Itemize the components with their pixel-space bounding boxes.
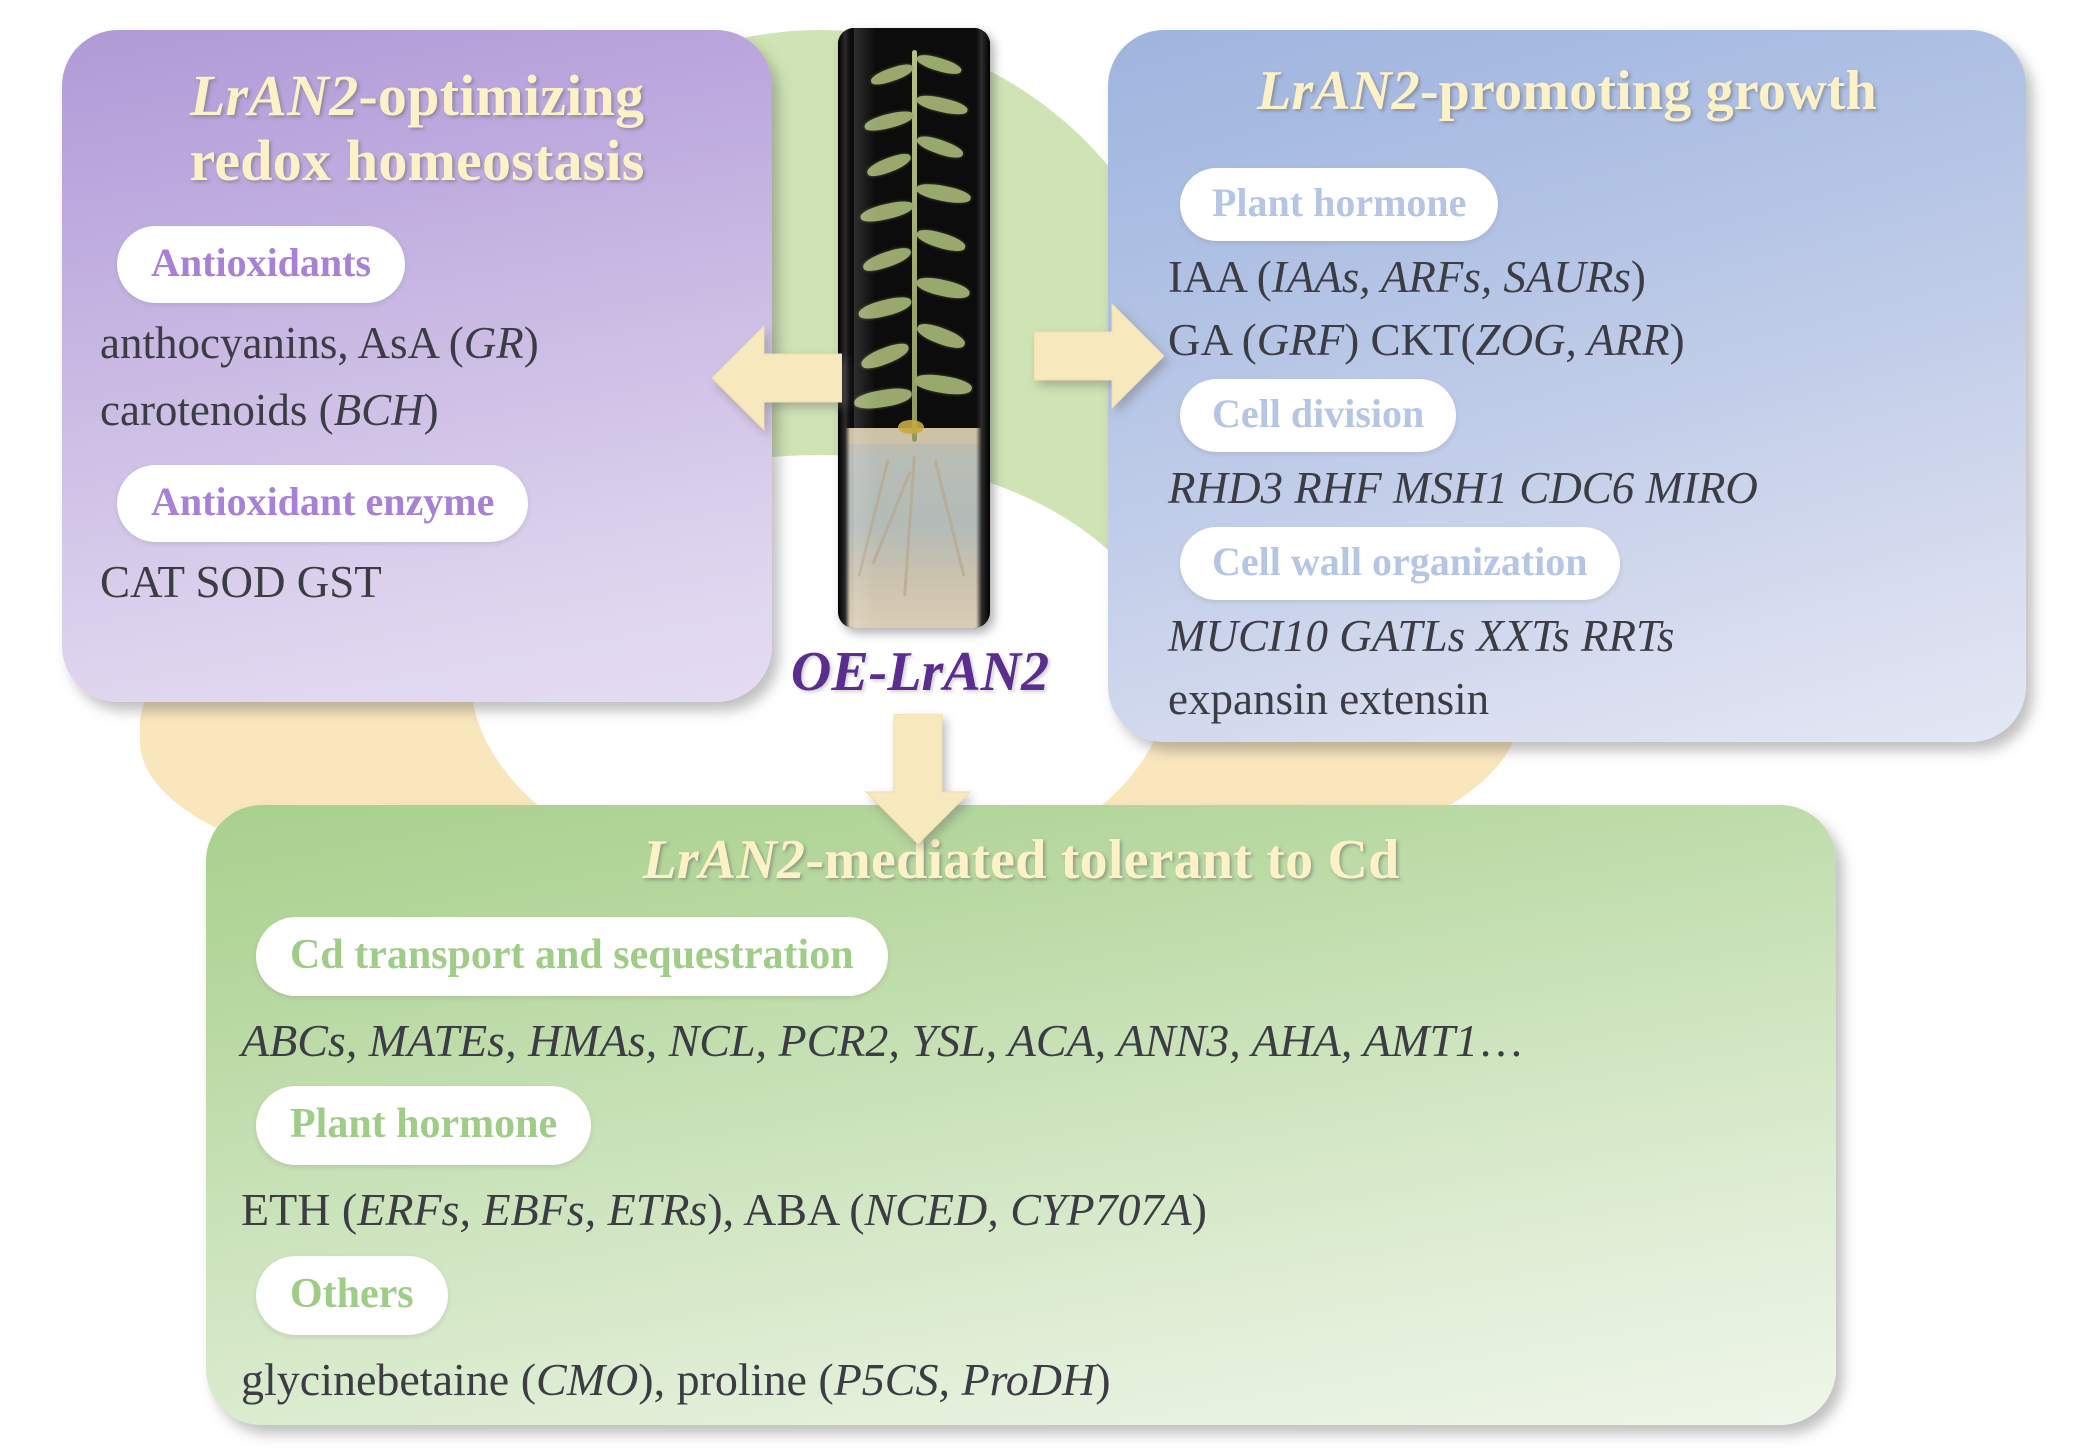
text-part: carotenoids ( xyxy=(100,385,334,435)
spacer xyxy=(1108,367,2026,379)
plant-tube-photo xyxy=(838,28,990,628)
text-part: ) xyxy=(1192,1184,1207,1235)
text-part: ETH ( xyxy=(241,1184,357,1235)
panel-left-title-gene: LrAN2 xyxy=(190,63,359,128)
text-part: glycinebetaine ( xyxy=(241,1354,536,1405)
spacer xyxy=(62,437,772,465)
panel-right-title: LrAN2-promoting growth xyxy=(1108,30,2026,123)
panel-bottom-content: Cd transport and sequestration ABCs, MAT… xyxy=(206,917,1836,1407)
chip-others: Others xyxy=(256,1256,448,1335)
text-part: ), proline ( xyxy=(638,1354,833,1405)
text-part: … xyxy=(1478,1015,1524,1066)
gene-name: GRF xyxy=(1257,315,1344,365)
gene-name: RHD3 RHF MSH1 CDC6 MIRO xyxy=(1168,463,1758,513)
arrow-right-icon xyxy=(1034,296,1164,416)
text-part: ) xyxy=(424,385,439,435)
panel-right-content: Plant hormone IAA (IAAs, ARFs, SAURs) GA… xyxy=(1108,168,2026,726)
arrow-down-icon xyxy=(858,714,978,844)
panel-left-content: Antioxidants anthocyanins, AsA (GR) caro… xyxy=(62,226,772,609)
center-label-oe-lran2: OE-LrAN2 xyxy=(770,640,1070,704)
plant-base xyxy=(898,420,924,434)
text-part: anthocyanins, AsA ( xyxy=(100,318,464,368)
panel-left-title: LrAN2-optimizing redox homeostasis xyxy=(62,30,772,194)
chip-antioxidant-enzyme: Antioxidant enzyme xyxy=(117,465,528,542)
gene-name: MUCI10 GATLs XXTs RRTs xyxy=(1168,611,1674,661)
gene-name: ERFs, EBFs, ETRs xyxy=(357,1184,707,1235)
panel-left-title-line2: redox homeostasis xyxy=(189,128,644,193)
line-antioxidants-2: carotenoids (BCH) xyxy=(100,384,772,437)
text-part: ) xyxy=(1631,252,1646,302)
arrow-left-icon xyxy=(712,318,842,438)
tube-glass xyxy=(838,28,990,628)
gene-name: IAAs, ARFs, SAURs xyxy=(1272,252,1631,302)
gene-name: NCED, CYP707A xyxy=(865,1184,1192,1235)
tube-edge-right xyxy=(976,28,990,628)
text-part: CAT SOD GST xyxy=(100,557,382,607)
gene-name: ABCs, MATEs, HMAs, NCL, PCR2, YSL, ACA, … xyxy=(241,1015,1478,1066)
panel-left-title-rest: -optimizing xyxy=(358,63,644,128)
chip-cell-division: Cell division xyxy=(1180,379,1456,452)
chip-cd-transport: Cd transport and sequestration xyxy=(256,917,888,996)
line-antioxidants-1: anthocyanins, AsA (GR) xyxy=(100,317,772,370)
panel-bottom-title: LrAN2-mediated tolerant to Cd xyxy=(206,805,1836,892)
panel-bottom-title-gene: LrAN2 xyxy=(642,829,805,891)
spacer xyxy=(1108,515,2026,527)
panel-right-title-rest: -promoting growth xyxy=(1420,60,1877,122)
gene-name: P5CS, ProDH xyxy=(834,1354,1096,1405)
line-others-1: glycinebetaine (CMO), proline (P5CS, Pro… xyxy=(241,1353,1836,1407)
line-hormone-1: IAA (IAAs, ARFs, SAURs) xyxy=(1168,251,2026,304)
panel-right-title-gene: LrAN2 xyxy=(1257,60,1420,122)
text-part: IAA ( xyxy=(1168,252,1272,302)
text-part: ), ABA ( xyxy=(707,1184,864,1235)
text-part: ) CKT( xyxy=(1344,315,1475,365)
line-antioxidant-enzyme-1: CAT SOD GST xyxy=(100,556,772,609)
text-part: expansin extensin xyxy=(1168,674,1489,724)
spacer xyxy=(206,1068,1836,1086)
text-part: GA ( xyxy=(1168,315,1257,365)
text-part: ) xyxy=(524,318,539,368)
chip-plant-hormone-growth: Plant hormone xyxy=(1180,168,1498,241)
chip-plant-hormone-cd: Plant hormone xyxy=(256,1086,591,1165)
figure-canvas: LrAN2-optimizing redox homeostasis Antio… xyxy=(0,0,2076,1454)
panel-promoting-growth: LrAN2-promoting growth Plant hormone IAA… xyxy=(1108,30,2026,742)
line-hormone-2: GA (GRF) CKT(ZOG, ARR) xyxy=(1168,314,2026,367)
line-cd-transport-1: ABCs, MATEs, HMAs, NCL, PCR2, YSL, ACA, … xyxy=(241,1014,1836,1068)
gene-name: ZOG, ARR xyxy=(1475,315,1669,365)
line-cell-wall-1: MUCI10 GATLs XXTs RRTs xyxy=(1168,610,2026,663)
gene-name: GR xyxy=(464,318,524,368)
spacer xyxy=(206,1238,1836,1256)
line-cell-wall-2: expansin extensin xyxy=(1168,673,2026,726)
tube-glass-highlight xyxy=(854,28,876,628)
panel-redox-homeostasis: LrAN2-optimizing redox homeostasis Antio… xyxy=(62,30,772,702)
chip-cell-wall-organization: Cell wall organization xyxy=(1180,527,1620,600)
line-cell-division-1: RHD3 RHF MSH1 CDC6 MIRO xyxy=(1168,462,2026,515)
text-part: ) xyxy=(1670,315,1685,365)
gene-name: BCH xyxy=(334,385,424,435)
text-part: ) xyxy=(1095,1354,1110,1405)
panel-cd-tolerance: LrAN2-mediated tolerant to Cd Cd transpo… xyxy=(206,805,1836,1425)
chip-antioxidants: Antioxidants xyxy=(117,226,405,303)
line-hormone-cd-1: ETH (ERFs, EBFs, ETRs), ABA (NCED, CYP70… xyxy=(241,1183,1836,1237)
gene-name: CMO xyxy=(536,1354,638,1405)
